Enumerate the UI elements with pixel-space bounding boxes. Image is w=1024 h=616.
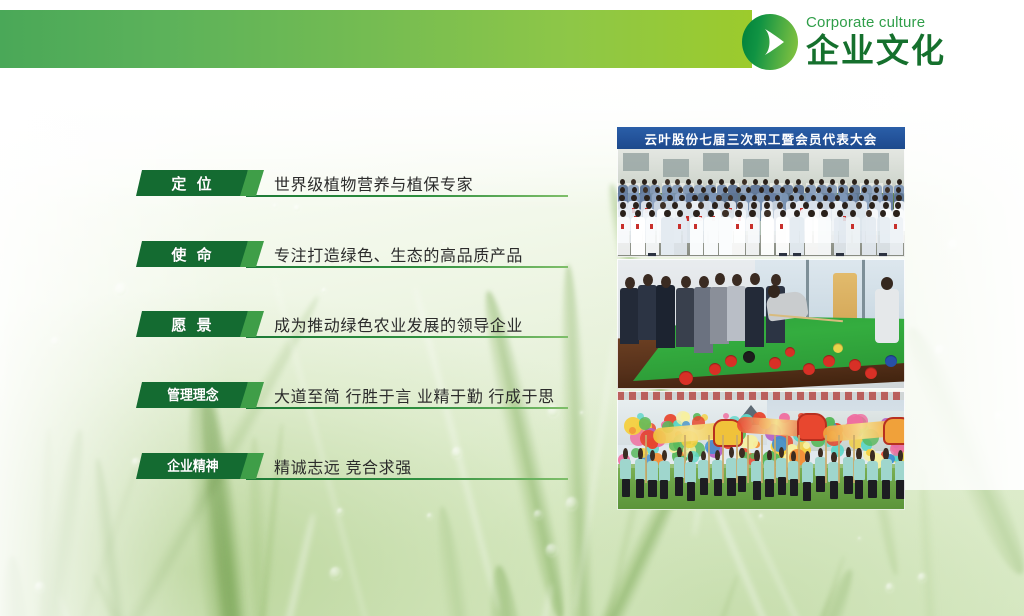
- photo3-dancer-head: [739, 448, 744, 458]
- photo1-person-head: [753, 179, 758, 185]
- staff-congress-group-photo[interactable]: 云叶股份七届三次职工暨会员代表大会: [617, 127, 905, 257]
- photo1-person-head: [785, 179, 790, 185]
- photo1-person-head: [740, 195, 746, 202]
- photo1-person-head: [736, 187, 741, 193]
- photo3-dancer-bottom: [765, 479, 773, 496]
- photo1-person-head: [656, 195, 662, 202]
- photo2-snooker-ball: [803, 363, 815, 375]
- photo3-dancer-bottom: [636, 479, 644, 498]
- photo3-dancer-head: [856, 448, 861, 460]
- photo3-dancer-head: [688, 451, 693, 463]
- photo2-spectator-head: [732, 274, 742, 286]
- photo3-dancer-head: [805, 451, 810, 463]
- photo1-person-head: [864, 179, 869, 185]
- photo3-dancer-head: [729, 447, 734, 459]
- photo1-person-head: [698, 202, 704, 209]
- photo2-spectator-head: [625, 277, 635, 289]
- value-tag-label: 愿 景: [136, 311, 248, 337]
- photo3-dancer-top: [685, 462, 696, 483]
- photo3-dancer-bottom: [753, 481, 761, 500]
- photo1-person: [631, 217, 644, 255]
- photo1-person: [732, 217, 745, 255]
- photo3-dancer: [802, 462, 813, 501]
- photo1-name-badge: [650, 224, 653, 229]
- photo1-person-legs: [879, 253, 887, 257]
- photo1-person-head: [631, 195, 637, 202]
- value-tag-label: 管理理念: [140, 382, 243, 408]
- photo3-dancers: [617, 391, 905, 510]
- photo1-name-badge: [851, 224, 854, 229]
- photo3-dancer-top: [659, 461, 670, 482]
- photo1-person-head: [764, 210, 771, 218]
- photo3-dancer: [659, 461, 670, 499]
- photo1-person: [617, 217, 630, 255]
- photo3-dancer: [895, 461, 905, 499]
- value-row: 管理理念大道至简 行胜于言 业精于勤 行成于思: [136, 382, 568, 426]
- photo1-person-head: [689, 187, 694, 193]
- photo2-spectator: [676, 288, 695, 346]
- snooker-billiards-event-photo[interactable]: [617, 259, 905, 389]
- photo1-person-head: [675, 179, 680, 185]
- photo2-spectator: [638, 285, 657, 340]
- photo1-person: [805, 217, 818, 255]
- photo3-balloon: [629, 427, 636, 434]
- photo3-dancer-bottom: [687, 482, 695, 501]
- photo3-dancer-top: [895, 461, 905, 481]
- photo1-person: [690, 217, 703, 255]
- photo1-person: [790, 217, 803, 255]
- photo2-snooker-ball: [833, 343, 843, 353]
- photo3-dragon-head: [883, 417, 905, 445]
- photo2-snooker-ball: [865, 367, 877, 379]
- photo1-person-head: [697, 179, 702, 185]
- photo2-snooker-ball: [709, 363, 721, 375]
- photo3-dragon-pole: [798, 435, 800, 483]
- photo3-dragon-head: [797, 413, 827, 441]
- photo1-person-head: [712, 202, 718, 209]
- photo2-spectator: [710, 287, 729, 344]
- photo2-snooker-ball: [769, 357, 781, 369]
- value-description: 成为推动绿色农业发展的领导企业: [274, 312, 523, 336]
- photo1-person-head: [667, 187, 672, 193]
- photo1-person-head: [874, 187, 879, 193]
- photo1-person-legs: [779, 253, 787, 257]
- photo3-dancer-bottom: [648, 480, 656, 498]
- photo3-dragon-pole: [838, 435, 840, 483]
- value-tag: 企业精神: [136, 453, 248, 479]
- photo1-person: [846, 217, 859, 255]
- photo1-person: [674, 217, 687, 255]
- photo1-name-badge: [678, 224, 681, 229]
- photo3-dancer-top: [620, 459, 631, 479]
- value-tag: 管理理念: [136, 382, 248, 408]
- photo1-person: [704, 217, 717, 255]
- value-tag-label: 定 位: [136, 170, 248, 196]
- photo3-dancer-bottom: [855, 480, 863, 499]
- photo1-person-head: [735, 210, 742, 218]
- value-tag: 定 位: [136, 170, 248, 196]
- photo2-spectator-head: [661, 276, 671, 288]
- photo3-dragon-pole: [825, 435, 827, 483]
- photo1-person-head: [686, 202, 692, 209]
- photo3-dancer-bottom: [790, 479, 798, 496]
- photo2-spectator-head: [681, 276, 691, 288]
- photo1-person-head: [692, 195, 698, 202]
- photo1-person-head: [664, 210, 671, 218]
- photo1-name-badge: [894, 224, 897, 229]
- photo2-spectator: [875, 289, 899, 343]
- photo1-person-head: [655, 187, 660, 193]
- photo3-dancer-bottom: [896, 480, 904, 498]
- photo3-dancer-top: [867, 461, 878, 481]
- photo3-dancer-bottom: [816, 476, 824, 493]
- photo2-spectator-head: [643, 274, 653, 286]
- photo1-person-head: [790, 202, 796, 209]
- value-description: 专注打造绿色、生态的高品质产品: [274, 242, 523, 266]
- photo1-person-head: [883, 202, 889, 209]
- photo3-balloon: [723, 413, 729, 419]
- photo2-player-head: [768, 285, 780, 298]
- photo1-person-head: [848, 195, 854, 202]
- photo1-person-head: [872, 195, 878, 202]
- photo3-dancer: [647, 461, 658, 498]
- photo1-person-head: [893, 210, 900, 218]
- photo3-dancer-bottom: [660, 480, 668, 498]
- photo1-name-badge: [750, 224, 753, 229]
- value-rule: [246, 336, 568, 338]
- photo1-person: [746, 217, 759, 255]
- photo3-dancer-bottom: [882, 480, 890, 499]
- photo3-dancer-bottom: [778, 477, 786, 495]
- photo1-person: [834, 217, 847, 255]
- photo1-person: [646, 217, 659, 255]
- photo2-spectator-head: [715, 273, 725, 285]
- photo1-name-badge: [780, 224, 783, 229]
- photo1-person-head: [886, 179, 891, 185]
- photo1-person-head: [679, 195, 685, 202]
- photo1-person: [719, 217, 732, 255]
- photo1-person: [761, 217, 774, 255]
- photo3-dancer-bottom: [868, 480, 876, 498]
- value-tag-label: 企业精神: [140, 453, 243, 479]
- photo1-person-head: [862, 187, 867, 193]
- photo1-person-head: [672, 202, 678, 209]
- photo1-person-head: [809, 179, 814, 185]
- photo1-name-badge: [621, 224, 624, 229]
- photo2-snooker-ball: [725, 355, 737, 367]
- photo3-dancer-head: [883, 448, 888, 460]
- photo1-person-head: [842, 202, 848, 209]
- photo3-dancer: [685, 462, 696, 501]
- value-row: 企业精神精诚志远 竞合求强: [136, 453, 568, 497]
- value-row: 愿 景成为推动绿色农业发展的领导企业: [136, 311, 568, 355]
- photo1-person: [776, 217, 789, 255]
- photo1-person: [890, 217, 903, 255]
- photo3-dancer-bottom: [830, 481, 838, 499]
- value-rule: [246, 407, 568, 409]
- photo3-dancer: [620, 459, 631, 497]
- photo1-person-legs: [836, 253, 844, 257]
- value-rule: [246, 195, 568, 197]
- value-description: 大道至简 行胜于言 业精于勤 行成于思: [274, 383, 555, 407]
- photo2-spectator: [727, 286, 746, 342]
- value-row: 使 命专注打造绿色、生态的高品质产品: [136, 241, 568, 285]
- photo1-person-head: [896, 195, 902, 202]
- photo1-person: [818, 217, 831, 255]
- photo1-person-head: [716, 195, 722, 202]
- photo3-dancer-head: [831, 452, 836, 463]
- photo1-person-head: [619, 195, 625, 202]
- photo1-person-head: [749, 210, 756, 218]
- photo1-person-legs: [648, 253, 656, 257]
- photo1-person: [862, 217, 875, 255]
- photo1-person-head: [764, 195, 770, 202]
- photo1-person-head: [693, 210, 700, 218]
- photo3-dancer: [881, 459, 892, 498]
- photo3-dancer-bottom: [727, 478, 735, 497]
- photo1-person-head: [746, 187, 751, 193]
- value-tag-label: 使 命: [136, 241, 248, 267]
- photo1-person-head: [821, 210, 828, 218]
- photo3-dancer-head: [898, 450, 903, 461]
- photo3-dancer-top: [802, 462, 813, 483]
- photo2-snooker-ball: [885, 355, 897, 367]
- value-tag: 使 命: [136, 241, 248, 267]
- photo1-person-head: [660, 202, 666, 209]
- photo1-person-head: [830, 179, 835, 185]
- photo3-dancer-bottom: [700, 478, 708, 495]
- photo3-dancer-bottom: [675, 477, 683, 495]
- photo1-person-head: [895, 202, 901, 209]
- photo1-person-head: [686, 179, 691, 185]
- photo3-dragon-pole: [708, 435, 710, 483]
- photo2-spectator-head: [881, 277, 893, 290]
- photo3-dancer-bottom: [714, 479, 722, 496]
- photo1-person: [877, 217, 890, 255]
- photo3-dancer-head: [650, 450, 655, 461]
- photo1-person-head: [816, 187, 821, 193]
- photo1-person-head: [763, 179, 768, 185]
- photo3-dancer-bottom: [622, 479, 630, 497]
- value-tag: 愿 景: [136, 311, 248, 337]
- photo1-person-head: [722, 210, 729, 218]
- photo1-person-head: [805, 187, 810, 193]
- value-description: 世界级植物营养与植保专家: [274, 171, 473, 195]
- value-row: 定 位世界级植物营养与植保专家: [136, 170, 568, 214]
- photo1-person-legs: [793, 253, 801, 257]
- photo3-dancer-top: [854, 459, 865, 480]
- photo3-balloon: [639, 417, 651, 429]
- photo2-snooker-ball: [679, 371, 693, 385]
- photo3-dancer-head: [754, 450, 759, 462]
- photo1-person-head: [633, 202, 639, 209]
- photo3-dancer-bottom: [844, 476, 852, 494]
- photo3-dancer-bottom: [803, 482, 811, 501]
- photo3-dancer-top: [647, 461, 658, 481]
- photo3-dragon-pole: [747, 435, 749, 483]
- photo1-person-head: [897, 179, 902, 185]
- photo1-person-head: [667, 195, 673, 202]
- photo1-person-head: [827, 187, 832, 193]
- photo1-person-head: [632, 187, 637, 193]
- value-rule: [246, 266, 568, 268]
- photo3-dancer: [867, 461, 878, 498]
- photo2-spectator: [656, 285, 675, 348]
- photo1-person-head: [644, 195, 650, 202]
- dragon-dance-parade-photo[interactable]: [617, 391, 905, 510]
- photo3-dancer-head: [779, 447, 784, 458]
- photo2-spectators: [617, 259, 905, 389]
- photo3-dancer-head: [662, 450, 667, 462]
- photo2-spectator-head: [750, 273, 760, 285]
- photo2-snooker-ball: [823, 355, 835, 367]
- photo1-person-head: [789, 195, 795, 202]
- photo1-person-head: [678, 187, 683, 193]
- photo3-dancer-top: [881, 459, 892, 480]
- photo2-spectator: [745, 287, 764, 347]
- photo1-person: [661, 217, 674, 255]
- photo1-person-head: [665, 179, 670, 185]
- photo1-person-head: [808, 210, 815, 218]
- photo2-spectator: [620, 288, 639, 344]
- photo1-person-head: [620, 187, 625, 193]
- photo1-name-badge: [694, 224, 697, 229]
- value-description: 精诚志远 竞合求强: [274, 454, 412, 478]
- slide-canvas: Corporate culture 企业文化 定 位世界级植物营养与植保专家使 …: [0, 0, 1024, 616]
- photo3-dancer-head: [870, 450, 875, 461]
- photo2-snooker-ball: [785, 347, 795, 357]
- photo1-name-badge: [636, 224, 639, 229]
- photo3-balloon: [803, 442, 810, 449]
- photo1-banner-text: 云叶股份七届三次职工暨会员代表大会: [617, 127, 905, 149]
- photo1-person-head: [764, 202, 770, 209]
- photo2-snooker-ball: [849, 359, 861, 371]
- photo3-dancer-bottom: [738, 476, 746, 493]
- photo1-person-head: [643, 187, 648, 193]
- photo3-dancer: [854, 459, 865, 499]
- photo1-person-head: [759, 187, 764, 193]
- photo3-dragon-pole: [722, 435, 724, 483]
- photo2-snooker-ball: [743, 351, 755, 363]
- photo1-name-badge: [736, 224, 739, 229]
- value-rule: [246, 478, 568, 480]
